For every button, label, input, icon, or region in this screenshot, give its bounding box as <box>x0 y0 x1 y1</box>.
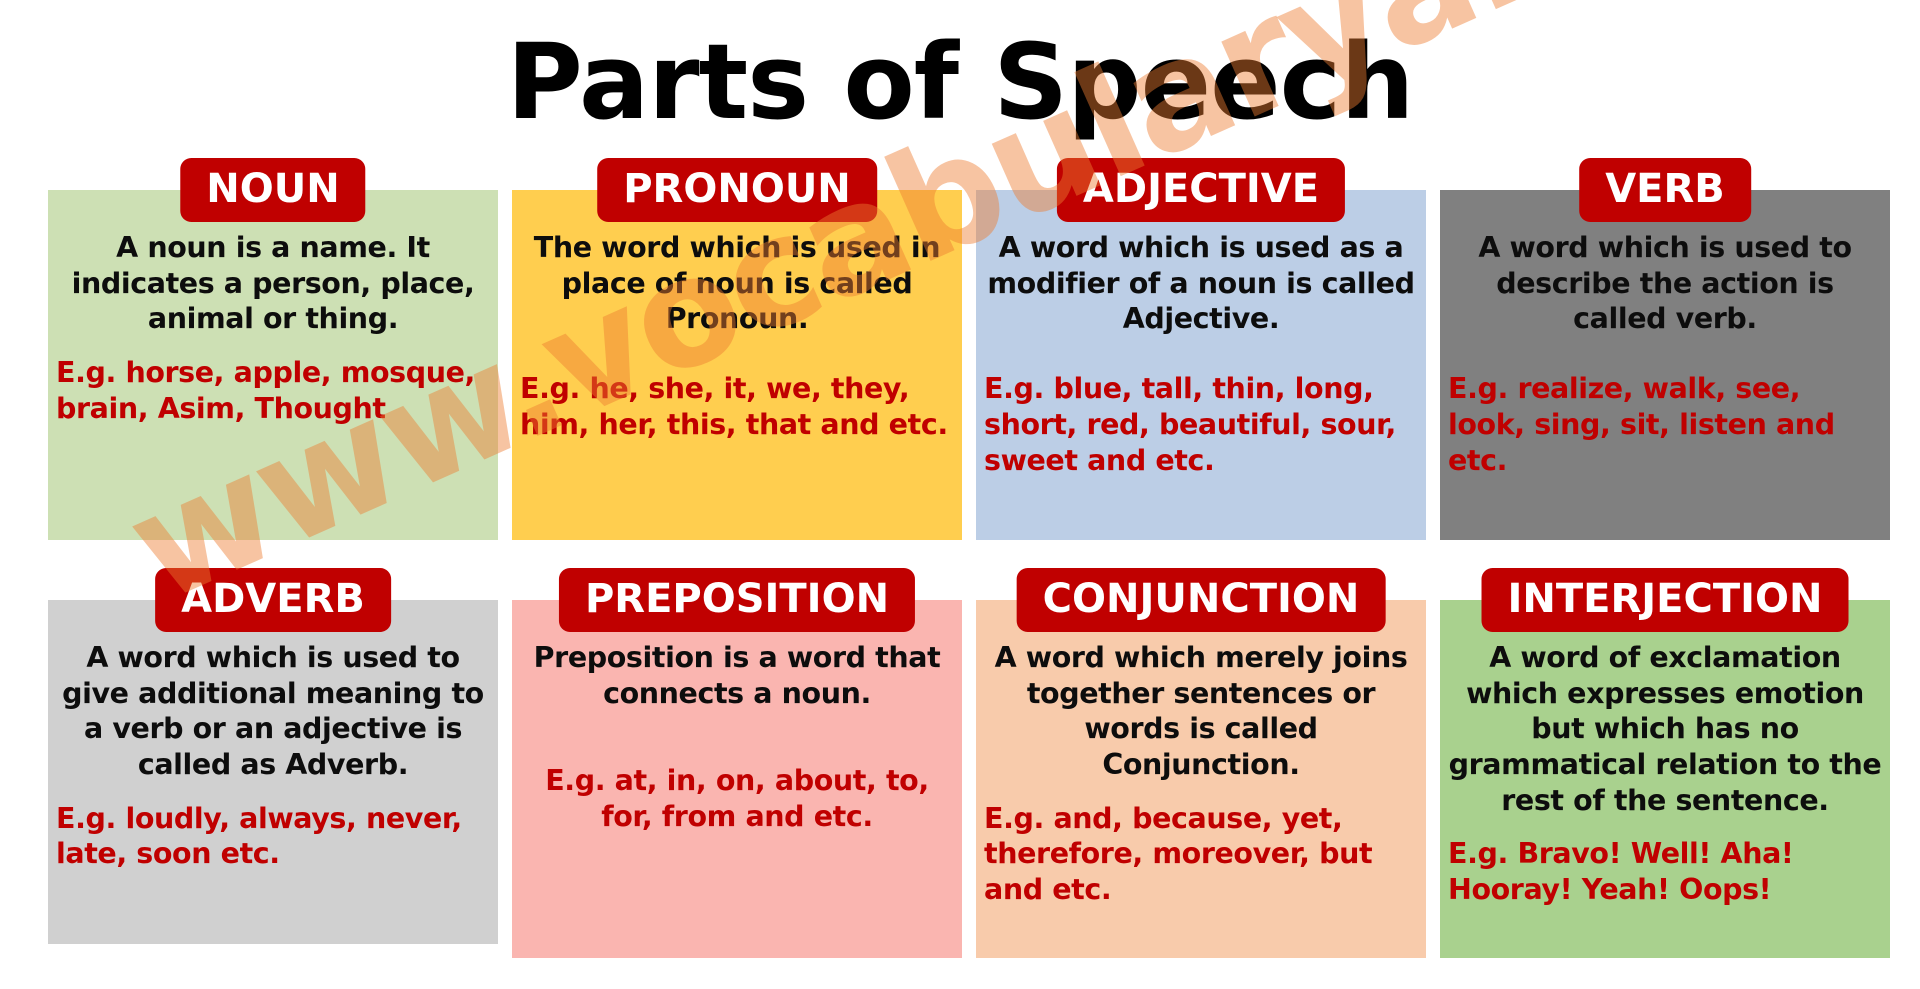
card-pronoun-example: E.g. he, she, it, we, they, him, her, th… <box>520 371 954 443</box>
card-interjection-body: A word of exclamation which expresses em… <box>1440 600 1890 958</box>
page-title: Parts of Speech <box>0 28 1920 137</box>
card-interjection-badge: INTERJECTION <box>1482 568 1849 632</box>
card-preposition: PREPOSITION Preposition is a word that c… <box>512 600 962 958</box>
card-pronoun-badge: PRONOUN <box>597 158 877 222</box>
card-noun-badge: NOUN <box>180 158 365 222</box>
card-conjunction-definition: A word which merely joins together sente… <box>984 640 1418 783</box>
card-verb: VERB A word which is used to describe th… <box>1440 190 1890 540</box>
card-verb-definition: A word which is used to describe the act… <box>1448 230 1882 337</box>
card-conjunction-badge: CONJUNCTION <box>1017 568 1386 632</box>
card-verb-body: A word which is used to describe the act… <box>1440 190 1890 540</box>
card-adverb-definition: A word which is used to give additional … <box>56 640 490 783</box>
card-interjection-example: E.g. Bravo! Well! Aha! Hooray! Yeah! Oop… <box>1448 836 1882 908</box>
card-interjection-definition: A word of exclamation which expresses em… <box>1448 640 1882 818</box>
card-adjective-example: E.g. blue, tall, thin, long, short, red,… <box>984 371 1418 479</box>
card-preposition-definition: Preposition is a word that connects a no… <box>520 640 954 711</box>
card-conjunction-body: A word which merely joins together sente… <box>976 600 1426 958</box>
parts-of-speech-infographic: Parts of Speech NOUN A noun is a name. I… <box>0 0 1920 989</box>
card-pronoun-definition: The word which is used in place of noun … <box>520 230 954 337</box>
card-adjective-definition: A word which is used as a modifier of a … <box>984 230 1418 337</box>
card-noun-definition: A noun is a name. It indicates a person,… <box>56 230 490 337</box>
card-adverb-body: A word which is used to give additional … <box>48 600 498 944</box>
card-conjunction: CONJUNCTION A word which merely joins to… <box>976 600 1426 958</box>
card-adverb: ADVERB A word which is used to give addi… <box>48 600 498 944</box>
card-interjection: INTERJECTION A word of exclamation which… <box>1440 600 1890 958</box>
card-noun-example: E.g. horse, apple, mosque, brain, Asim, … <box>56 355 490 427</box>
card-preposition-body: Preposition is a word that connects a no… <box>512 600 962 958</box>
card-conjunction-example: E.g. and, because, yet, therefore, moreo… <box>984 801 1418 909</box>
card-adjective-body: A word which is used as a modifier of a … <box>976 190 1426 540</box>
card-pronoun-body: The word which is used in place of noun … <box>512 190 962 540</box>
card-preposition-badge: PREPOSITION <box>559 568 915 632</box>
card-verb-badge: VERB <box>1579 158 1751 222</box>
card-pronoun: PRONOUN The word which is used in place … <box>512 190 962 540</box>
card-adjective: ADJECTIVE A word which is used as a modi… <box>976 190 1426 540</box>
card-noun: NOUN A noun is a name. It indicates a pe… <box>48 190 498 540</box>
card-noun-body: A noun is a name. It indicates a person,… <box>48 190 498 540</box>
card-preposition-example: E.g. at, in, on, about, to, for, from an… <box>520 763 954 835</box>
card-verb-example: E.g. realize, walk, see, look, sing, sit… <box>1448 371 1882 479</box>
card-adverb-example: E.g. loudly, always, never, late, soon e… <box>56 801 490 873</box>
card-adjective-badge: ADJECTIVE <box>1057 158 1345 222</box>
card-adverb-badge: ADVERB <box>155 568 391 632</box>
